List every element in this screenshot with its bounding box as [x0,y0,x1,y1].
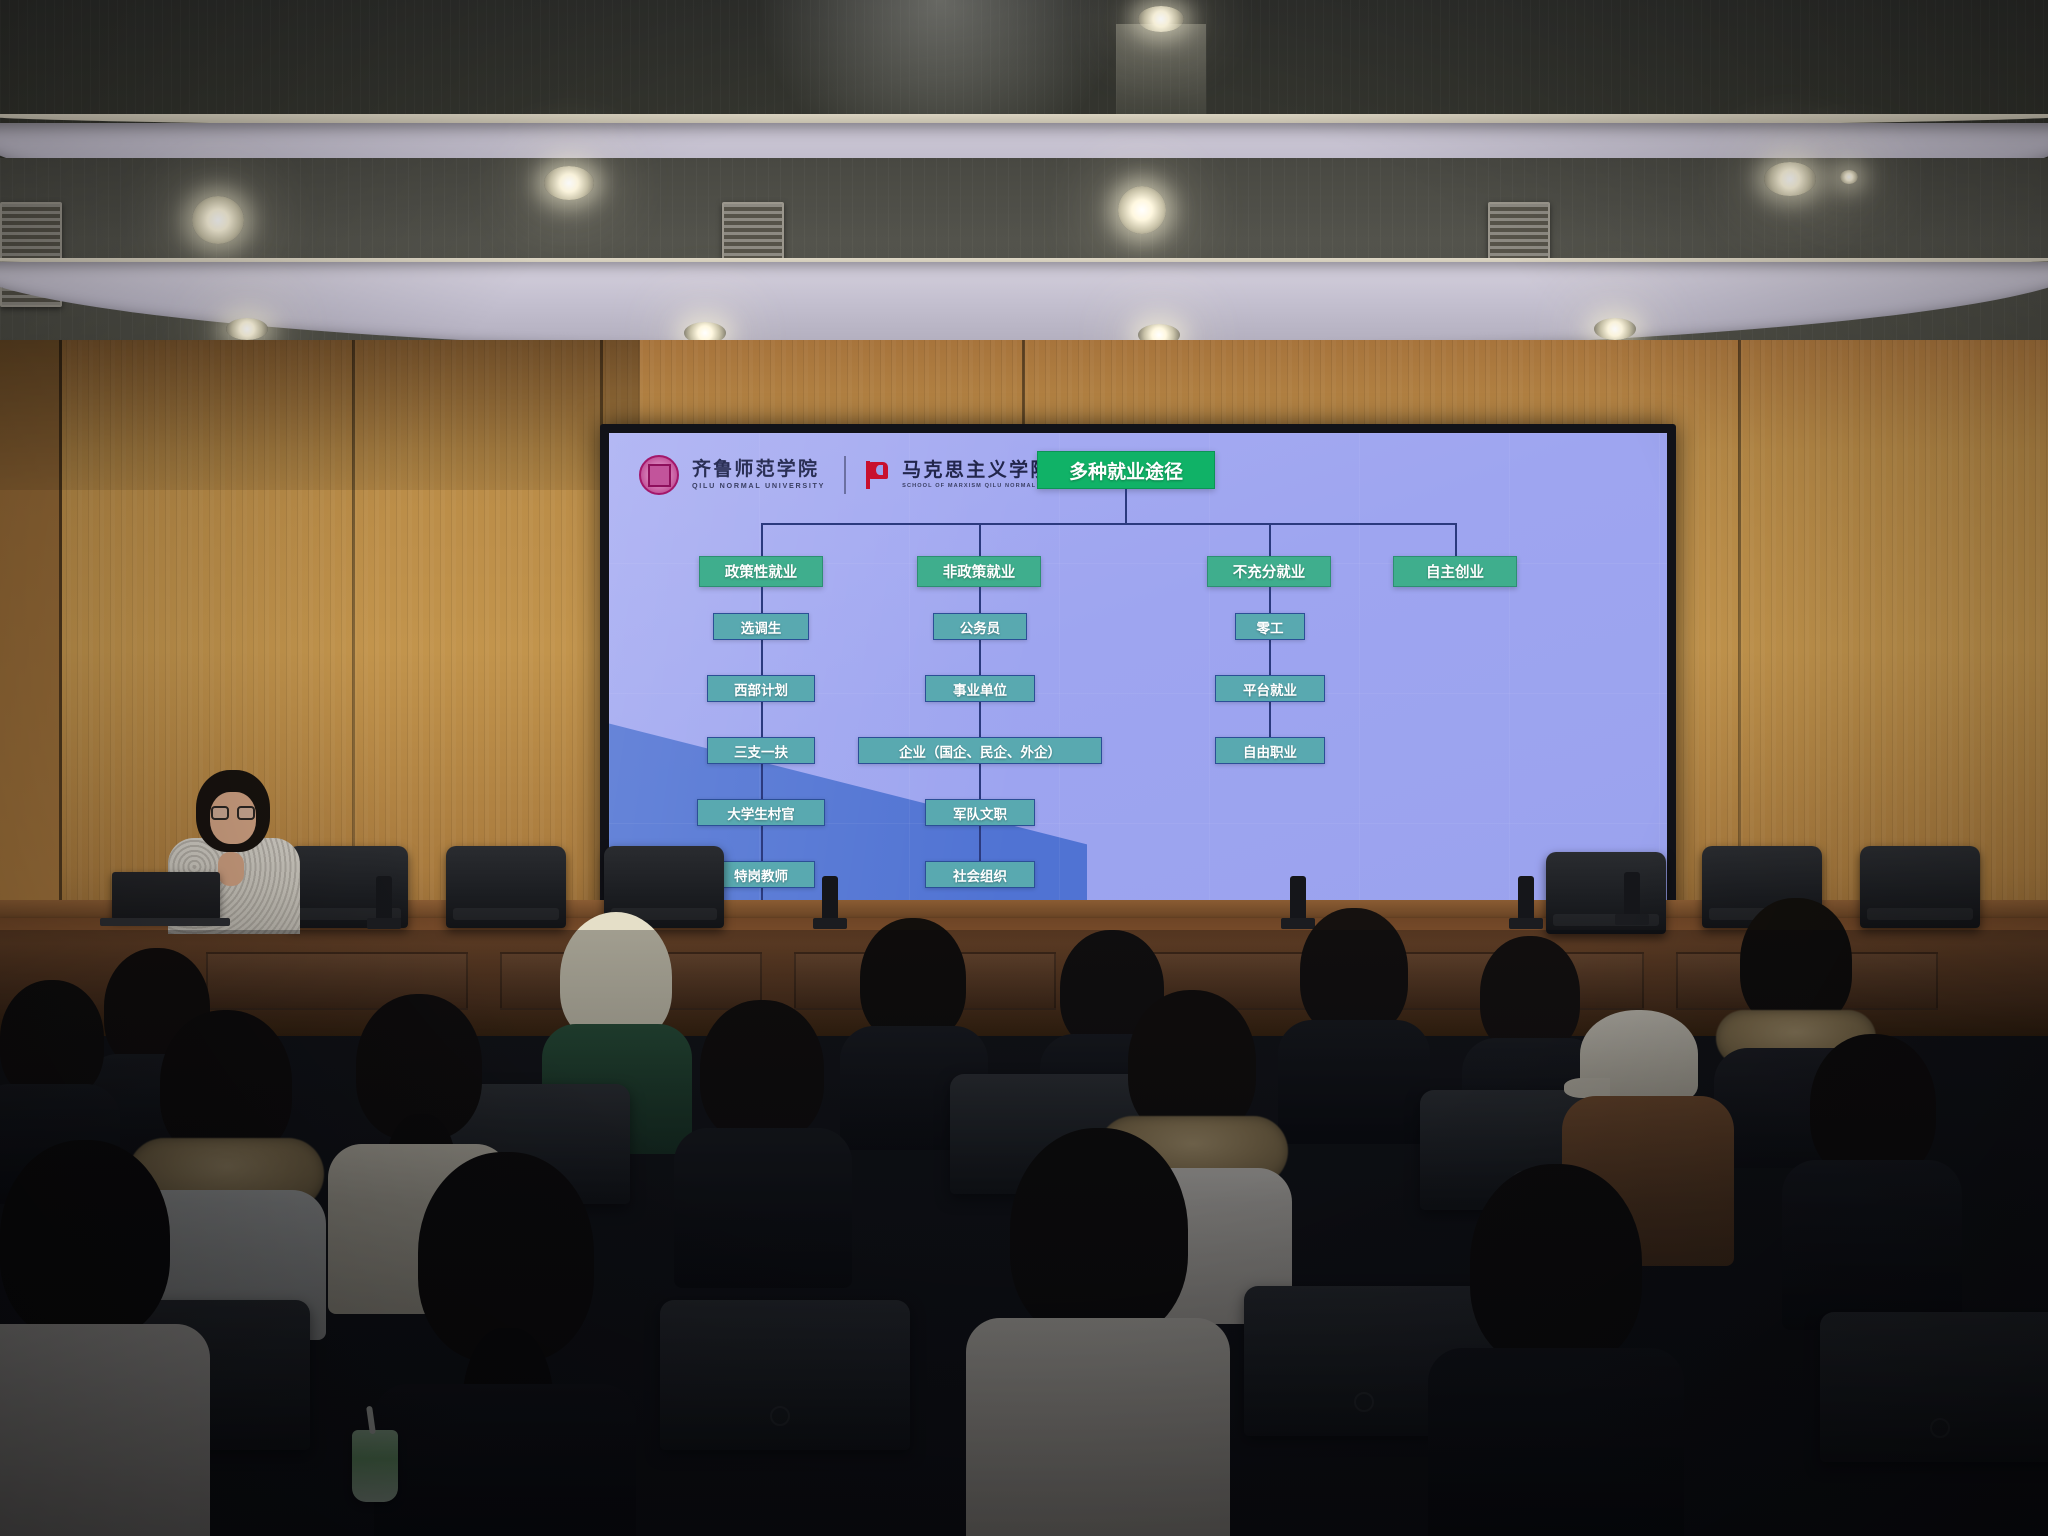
chart-category-node: 政策性就业 [699,556,823,587]
stage-chair [1860,846,1980,928]
audience-coat [1278,1020,1430,1144]
microphone [1290,876,1306,922]
audience-hair [1470,1164,1642,1368]
employment-paths-chart: 多种就业途径 政策性就业 非政策就业 不充分就业 自主创业 选调生 西部计划 [609,433,1667,947]
connector-bus [761,523,1455,525]
ceiling-downlight [226,318,268,340]
ceiling-downlight [192,196,244,244]
lecture-hall-photo: 齐鲁师范学院 QILU NORMAL UNIVERSITY 马克思主义学院 SC… [0,0,2048,1536]
wall-shadow [0,340,640,490]
chart-leaf-node: 三支一扶 [707,737,815,764]
microphone-base [367,918,401,929]
microphone-base [813,918,847,929]
ceiling-downlight [1764,162,1816,196]
chart-leaf-node: 零工 [1235,613,1305,640]
audience-coat [0,1324,210,1536]
audience-coat [374,1384,636,1536]
ceiling-downlight [1840,170,1858,184]
microphone [1624,872,1640,918]
connector-drop-cat [979,523,981,556]
glasses-lens-right [237,806,255,820]
speaker-hand [218,852,244,886]
chart-leaf-node: 军队文职 [925,799,1035,826]
audience-seat [660,1300,910,1450]
speaker-glasses [211,806,255,820]
ceiling-downlight [1138,6,1184,32]
glasses-lens-left [211,806,229,820]
ceiling-downlight [1118,186,1166,234]
connector-drop-cat [1269,523,1271,556]
audience-coat [1428,1348,1684,1536]
microphone [822,876,838,922]
microphone [376,876,392,922]
chart-leaf-node: 西部计划 [707,675,815,702]
audience-hair [860,918,966,1042]
drink-cup [352,1430,398,1502]
microphone-base [1615,914,1649,925]
chart-category-node: 非政策就业 [917,556,1041,587]
projection-screen: 齐鲁师范学院 QILU NORMAL UNIVERSITY 马克思主义学院 SC… [609,433,1667,947]
connector-drop-cat [1455,523,1457,556]
chart-category-node: 自主创业 [1393,556,1517,587]
stage-chair [446,846,566,928]
audience-hair [1480,936,1580,1054]
audience-hair [1740,898,1852,1028]
audience-hair [0,1140,170,1340]
chart-leaf-node: 社会组织 [925,861,1035,888]
connector-drop-cat [761,523,763,556]
audience-seat [1820,1312,2048,1462]
audience-hair [0,980,104,1100]
microphone-base [1509,918,1543,929]
microphone [1518,876,1534,922]
chart-root-node: 多种就业途径 [1037,451,1215,489]
audience-coat [1782,1160,1962,1330]
projection-screen-bezel: 齐鲁师范学院 QILU NORMAL UNIVERSITY 马克思主义学院 SC… [600,424,1676,956]
chart-leaf-node: 事业单位 [925,675,1035,702]
audience-coat [674,1128,852,1288]
chart-leaf-node: 企业（国企、民企、外企） [858,737,1102,764]
cap-brim [1564,1078,1610,1098]
chart-leaf-node: 选调生 [713,613,809,640]
audience-hair [1810,1034,1936,1180]
audience-hair [560,912,672,1042]
chart-category-node: 不充分就业 [1207,556,1331,587]
chart-leaf-node: 大学生村官 [697,799,825,826]
chart-leaf-node: 自由职业 [1215,737,1325,764]
connector-root-stem [1125,489,1127,523]
microphone-base [1281,918,1315,929]
audience-cap [1580,1010,1698,1102]
audience-hair [1010,1128,1188,1340]
ceiling-downlight [1594,318,1636,340]
chart-leaf-node: 公务员 [933,613,1027,640]
audience-hair [1300,908,1408,1036]
speaker-laptop [112,872,220,920]
connector-spine-col3 [1269,587,1271,747]
audience-coat [966,1318,1230,1536]
chart-leaf-node: 平台就业 [1215,675,1325,702]
ceiling-downlight [544,166,594,200]
speaker-laptop-base [100,918,230,926]
audience-hair [700,1000,824,1142]
